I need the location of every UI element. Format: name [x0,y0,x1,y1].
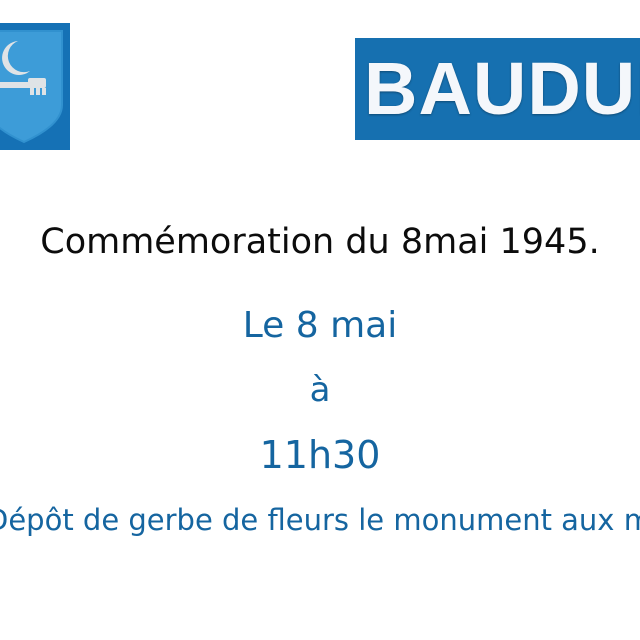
sign-label: BAUDUEN [364,54,640,124]
announcement-at: à [0,370,640,410]
bauduen-place-sign: BAUDUEN [355,38,640,140]
announcement-time: 11h30 [0,433,640,477]
announcement-detail: Dépôt de gerbe de fleurs le monument aux… [0,503,640,537]
bauduen-coat-of-arms [0,23,70,150]
header-banner: BAUDUEN [0,0,640,165]
announcement-headline: Commémoration du 8mai 1945. [0,222,640,262]
announcement-date: Le 8 mai [0,305,640,346]
crest-shield-icon [0,29,64,144]
